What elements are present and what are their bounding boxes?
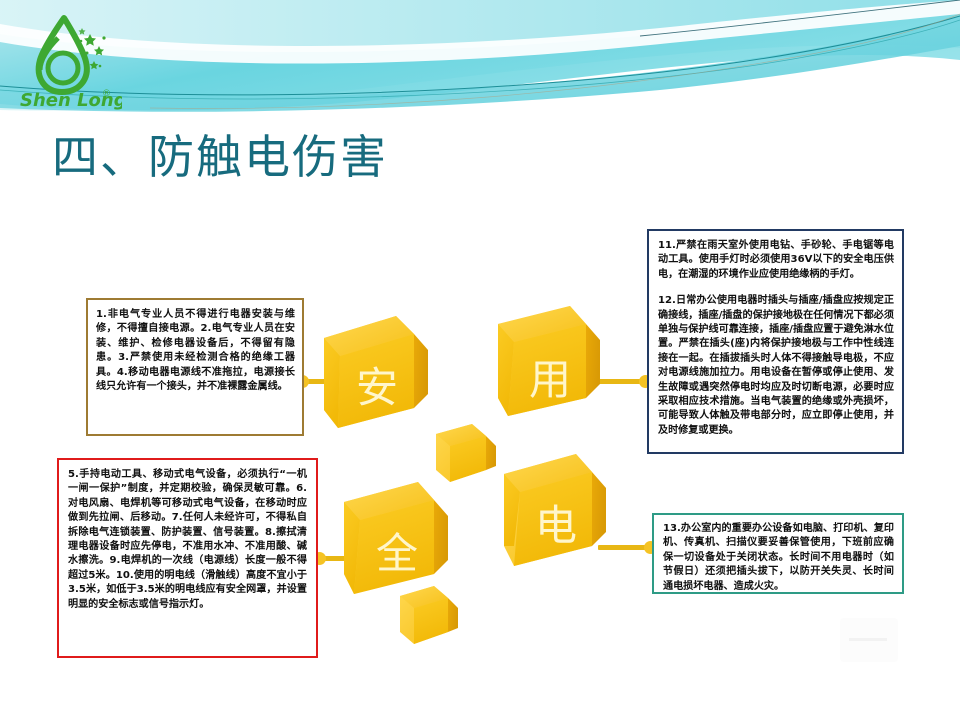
cube-small-bottom <box>400 586 458 644</box>
rules-box-1-4-text: 1.非电气专业人员不得进行电器安装与维修，不得擅自接电源。2.电气专业人员在安装… <box>96 308 295 394</box>
cube-label-yong: 用 <box>529 355 571 404</box>
cube-dian: 电 <box>504 454 606 566</box>
slide-canvas: Shen Long ® 四、防触电伤害 <box>0 0 960 720</box>
cube-quan: 全 <box>344 482 448 594</box>
rule-13-text: 13.办公室内的重要办公设备如电脑、打印机、复印机、传真机、扫描仪要妥善保管使用… <box>663 522 894 594</box>
cube-an: 安 <box>324 316 428 428</box>
rules-box-13[interactable]: 13.办公室内的重要办公设备如电脑、打印机、复印机、传真机、扫描仪要妥善保管使用… <box>652 513 904 594</box>
rules-box-5-10-text: 5.手持电动工具、移动式电气设备，必须执行“一机一闸一保护”制度，并定期校验，确… <box>68 468 307 612</box>
rules-box-11-12[interactable]: 11.严禁在雨天室外使用电钻、手砂轮、手电锯等电动工具。使用手灯时必须使用36V… <box>647 229 904 454</box>
rule-12-text: 12.日常办公使用电器时插头与插座/插盘应按规定正确接线，插座/插盘的保护接地极… <box>658 294 894 438</box>
logo-trademark-icon: ® <box>102 89 111 99</box>
rules-box-1-4[interactable]: 1.非电气专业人员不得进行电器安装与维修，不得擅自接电源。2.电气专业人员在安装… <box>86 298 304 436</box>
cube-label-quan: 全 <box>376 529 418 578</box>
brand-logo: Shen Long ® <box>18 12 122 110</box>
safe-electricity-cubes-graphic: 安 用 <box>318 276 638 666</box>
rule-11-text: 11.严禁在雨天室外使用电钻、手砂轮、手电锯等电动工具。使用手灯时必须使用36V… <box>658 239 894 282</box>
rules-box-5-10[interactable]: 5.手持电动工具、移动式电气设备，必须执行“一机一闸一保护”制度，并定期校验，确… <box>57 458 318 658</box>
watermark-artifact <box>840 618 898 662</box>
cube-label-an: 安 <box>356 363 398 412</box>
header-decorative-waves <box>0 0 960 118</box>
page-title: 四、防触电伤害 <box>52 126 388 188</box>
cube-small-center <box>436 424 496 482</box>
cube-label-dian: 电 <box>535 501 577 550</box>
cube-yong: 用 <box>498 306 600 416</box>
water-drop-icon <box>39 18 87 92</box>
